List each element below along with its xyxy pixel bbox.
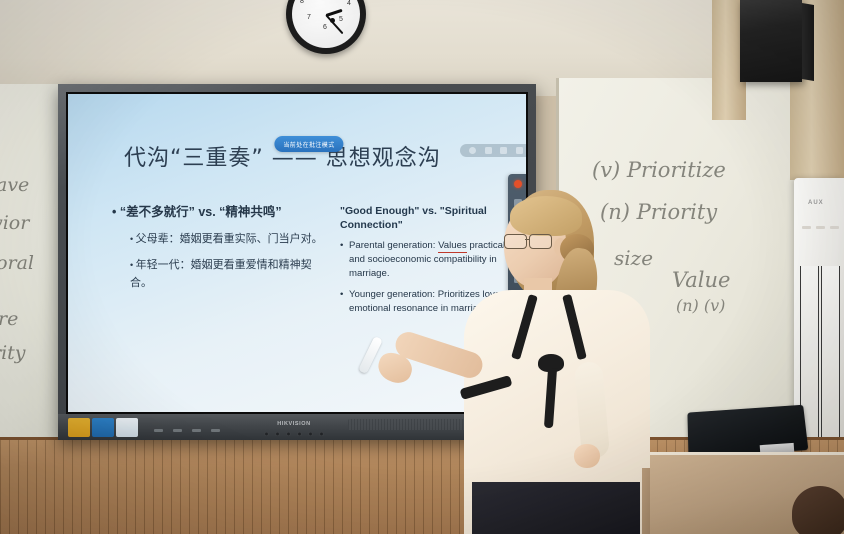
presenter [462,186,652,534]
ac-control-panel[interactable] [802,226,839,229]
skirt [472,482,640,534]
annotation-mode-badge: 当前处在批注模式 [274,136,343,152]
shapes-icon[interactable] [500,147,507,154]
volume-up-button[interactable] [309,432,313,436]
panel-control-buttons[interactable] [265,432,324,436]
lens-right [529,234,552,249]
glasses-bridge [525,239,529,240]
clock-face: 8 7 6 5 4 [292,0,360,48]
audio-port-icon[interactable] [211,429,220,432]
collar-right [562,294,587,360]
eyeglasses [504,234,552,247]
left-column-item: 父母辈：婚姻更看重实际、门当户对。 [130,230,332,249]
pen-icon[interactable] [469,147,476,154]
whiteboard-note-right-5: (n) (v) [676,296,725,315]
classroom-screenshot: ave vior ioral re rity (v) Prioritize (n… [0,0,844,534]
bezel-sticker-white [116,418,138,437]
volume-down-button[interactable] [298,432,302,436]
whiteboard-note-right-4: Value [672,268,730,292]
power-button[interactable] [265,432,269,436]
bezel-port-row[interactable] [154,429,220,432]
select-icon[interactable] [516,147,523,154]
bezel-sticker-yellow [68,418,90,437]
ac-button[interactable] [802,226,811,229]
clock-center-pin [330,18,335,23]
floating-toolbar[interactable] [460,144,526,157]
usb-port-icon[interactable] [173,429,182,432]
bezel-sticker-blue [92,418,114,437]
whiteboard-note-left-2: vior [0,212,29,234]
back-button[interactable] [287,432,291,436]
whiteboard-note-left-3: ioral [0,252,34,274]
whiteboard-left [0,84,63,464]
panel-brand-logo: HIKVISION [277,421,311,427]
hair-fringe [510,196,582,236]
collar-trim [520,294,584,366]
whiteboard-note-left-4: re [0,308,18,330]
clock-numeral: 5 [339,16,343,23]
whiteboard-note-right-1: (v) Prioritize [592,158,726,182]
source-button[interactable] [320,432,324,436]
right-hand [574,444,600,468]
clock-numeral: 7 [307,14,311,21]
eraser-icon[interactable] [485,147,492,154]
clock-numeral: 4 [347,0,351,7]
ac-vent [821,266,840,446]
speaker-side-panel [802,3,814,81]
slide-left-column: “差不多就行” vs. “精神共鸣” 父母辈：婚姻更看重实际、门当户对。 年轻一… [112,204,332,300]
left-column-heading: “差不多就行” vs. “精神共鸣” [112,204,332,221]
item-prefix-text: Parental generation: [349,240,438,251]
left-column-item: 年轻一代：婚姻更看重爱情和精神契合。 [130,256,332,293]
student-head [792,486,844,534]
hdmi-port-icon[interactable] [192,429,201,432]
home-button[interactable] [276,432,280,436]
ac-button[interactable] [830,226,839,229]
ac-button[interactable] [816,226,825,229]
wall-speaker [740,0,802,82]
clock-numeral: 6 [323,24,327,31]
whiteboard-note-left-1: ave [0,174,29,196]
whiteboard-note-left-5: rity [0,342,26,364]
usb-port-icon[interactable] [154,429,163,432]
lens-left [504,234,527,249]
clock-numeral: 8 [300,0,304,5]
ac-brand-label: AUX [808,200,824,206]
